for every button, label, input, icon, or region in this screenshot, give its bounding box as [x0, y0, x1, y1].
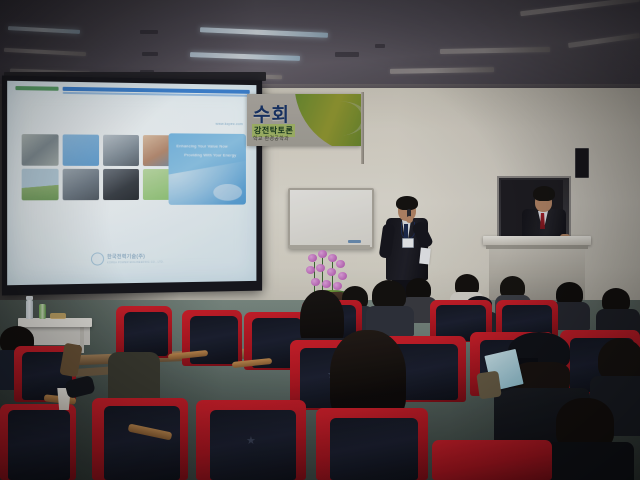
- company-name-ko: 한국전력기술(주): [107, 253, 164, 261]
- orchid-bloom: [333, 282, 342, 290]
- ceiling-vent: [142, 52, 158, 56]
- seat-back: [330, 418, 418, 480]
- ceiling-light-tube: [4, 48, 86, 56]
- orchid-bloom: [328, 254, 337, 262]
- ceiling-vent: [335, 52, 359, 57]
- presenter-hair: [533, 186, 555, 201]
- slide-thumb-keyboard: [103, 169, 139, 200]
- seat-back: [8, 410, 70, 480]
- orchid-stem: [322, 256, 323, 294]
- orchid-bloom: [311, 278, 320, 286]
- slide-thumb-blue-block: [63, 134, 99, 165]
- ceiling-vent: [375, 44, 385, 48]
- company-logo-mark: [91, 252, 104, 265]
- wall-speaker-icon: [575, 148, 589, 178]
- auditorium-photo: www.kopec.com Enhancing Your Value Now P…: [0, 0, 640, 480]
- slide-thumb-radar-dish: [22, 169, 59, 201]
- speaker-papers: [419, 248, 431, 265]
- ceiling-light-tube: [440, 47, 550, 54]
- orchid-bloom: [327, 268, 336, 276]
- side-table-top: [18, 318, 92, 327]
- company-name-en: KOREA POWER ENGINEERING CO., LTD.: [107, 261, 164, 265]
- slide-thumb-drill: [103, 135, 139, 166]
- company-logo-text-wrap: 한국전력기술(주) KOREA POWER ENGINEERING CO., L…: [107, 253, 164, 265]
- presentation-slide: www.kopec.com Enhancing Your Value Now P…: [7, 81, 256, 285]
- banner-title: 수회: [253, 100, 290, 127]
- lectern-lip: [486, 245, 588, 249]
- seat-back: [104, 406, 180, 480]
- banner-swoosh-graphic: [295, 94, 361, 146]
- water-bottle-cap: [26, 296, 33, 300]
- orchid-bloom: [316, 264, 325, 272]
- speaker-hair: [396, 196, 418, 210]
- orchid-bloom: [306, 266, 315, 274]
- ceiling-light-tube: [190, 52, 300, 61]
- whiteboard-marker: [348, 240, 361, 243]
- seat-logo: ★: [246, 436, 256, 447]
- audience-body: [544, 442, 634, 480]
- seat-frame: [432, 440, 552, 480]
- speaker-name-badge: [402, 238, 414, 248]
- green-drink-bottle: [39, 304, 46, 319]
- panel-logo-oval: [213, 184, 242, 201]
- ceiling-light-tube: [390, 67, 494, 74]
- ceiling-light-tube: [8, 26, 80, 34]
- slide-tagline-panel: Enhancing Your Value Now Providing With …: [169, 133, 246, 205]
- ceiling-light-tube: [520, 0, 640, 16]
- ceiling-vent: [140, 30, 158, 34]
- seat-back: [124, 312, 168, 356]
- ceiling-light-tube: [200, 27, 328, 38]
- ceiling-light-tube: [568, 33, 640, 48]
- orchid-bloom: [318, 250, 327, 258]
- slide-url: www.kopec.com: [216, 122, 243, 126]
- orchid-bloom: [338, 272, 347, 280]
- orchid-stem: [332, 260, 333, 294]
- orchid-bloom: [308, 254, 317, 262]
- slide-green-bar: [15, 86, 58, 91]
- banner-footnote: 학교 환경공학과: [253, 135, 289, 142]
- speaker-mic-hand: [406, 216, 413, 223]
- slide-thumb-plant-site: [63, 169, 99, 200]
- lectern-top: [483, 236, 591, 245]
- reader-sleeve: [476, 371, 501, 400]
- snack-tray: [50, 313, 66, 319]
- orchid-bloom: [322, 280, 331, 288]
- seat-back: ★: [210, 410, 296, 480]
- whiteboard: [288, 188, 374, 249]
- banner-pole: [361, 92, 364, 164]
- orchid-bloom: [336, 260, 345, 268]
- slide-thumb-turbine: [22, 134, 59, 166]
- slide-company-logo: 한국전력기술(주) KOREA POWER ENGINEERING CO., L…: [91, 252, 164, 266]
- panel-tagline-2: Providing With Your Energy: [184, 152, 236, 157]
- water-bottle: [26, 300, 33, 319]
- panel-tagline-1: Enhancing Your Value Now: [176, 143, 227, 148]
- event-banner: 수회 강전탁토론 학교 환경공학과: [247, 94, 361, 146]
